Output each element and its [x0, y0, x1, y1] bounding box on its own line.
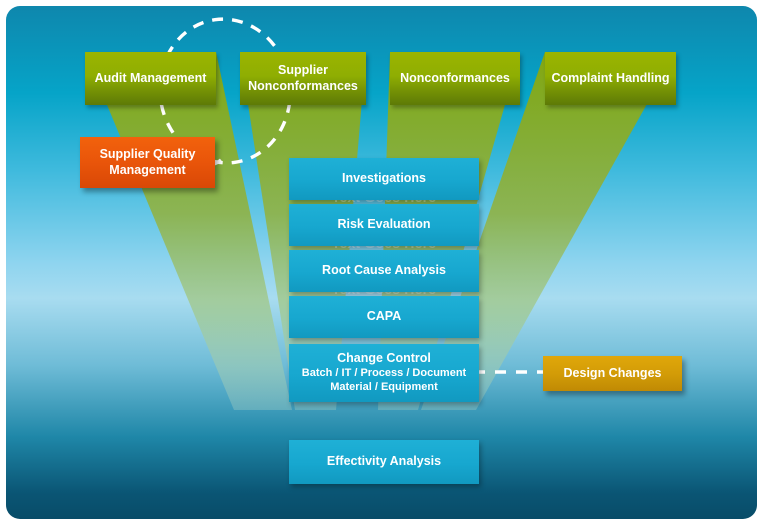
diagram-canvas: Text Goes Here Text Goes Here Text Goes … [6, 6, 757, 519]
source-box-supplier-nonconformances[interactable]: Supplier Nonconformances [240, 52, 366, 105]
outcome-label: Effectivity Analysis [327, 454, 441, 470]
change-control-line2: Batch / IT / Process / Document [302, 367, 466, 381]
process-box-risk-evaluation[interactable]: Risk Evaluation [289, 204, 479, 246]
node-supplier-quality-management[interactable]: Supplier Quality Management [80, 137, 215, 188]
process-box-investigations[interactable]: Investigations [289, 158, 479, 200]
change-control-title: Change Control [337, 351, 431, 367]
process-label: Root Cause Analysis [322, 263, 446, 279]
source-box-complaint-handling[interactable]: Complaint Handling [545, 52, 676, 105]
node-label: Design Changes [564, 366, 662, 382]
source-label: Audit Management [95, 71, 207, 87]
source-box-audit-management[interactable]: Audit Management [85, 52, 216, 105]
outcome-box-effectivity-analysis[interactable]: Effectivity Analysis [289, 440, 479, 484]
process-box-root-cause-analysis[interactable]: Root Cause Analysis [289, 250, 479, 292]
source-label: Nonconformances [400, 71, 510, 87]
process-box-change-control[interactable]: Change Control Batch / IT / Process / Do… [289, 344, 479, 402]
process-label: Risk Evaluation [337, 217, 430, 233]
source-label: Complaint Handling [551, 71, 669, 87]
process-label: Investigations [342, 171, 426, 187]
source-box-nonconformances[interactable]: Nonconformances [390, 52, 520, 105]
source-label: Supplier Nonconformances [246, 63, 360, 94]
node-label: Supplier Quality Management [86, 147, 209, 178]
change-control-line3: Material / Equipment [330, 381, 438, 395]
node-design-changes[interactable]: Design Changes [543, 356, 682, 391]
process-box-capa[interactable]: CAPA [289, 296, 479, 338]
process-label: CAPA [367, 309, 402, 325]
